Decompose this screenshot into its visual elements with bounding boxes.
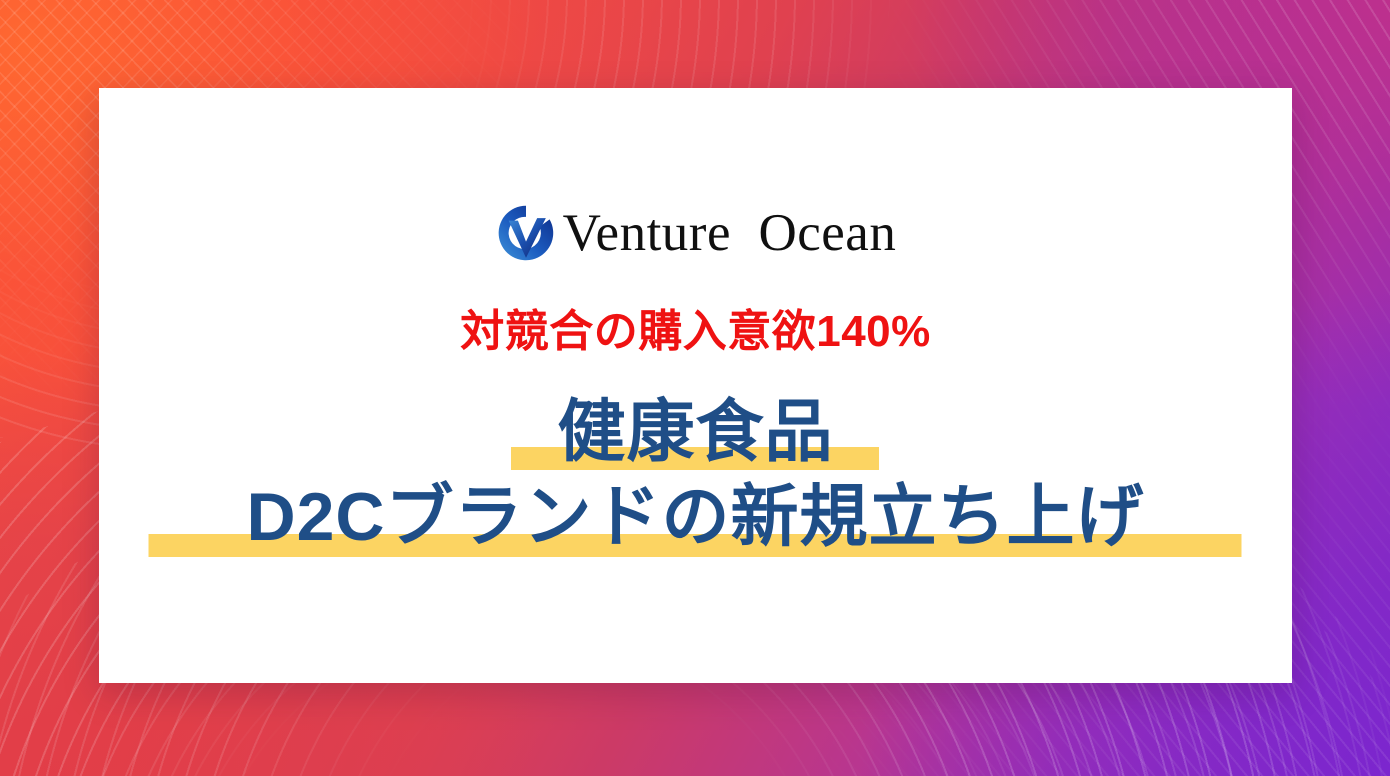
headline-line-2: D2Cブランドの新規立ち上げ [246, 479, 1144, 555]
brand-logo: Venture Ocean [495, 200, 897, 266]
headline: 健康食品 D2Cブランドの新規立ち上げ [246, 394, 1144, 554]
headline-line-1: 健康食品 [246, 394, 1144, 470]
logo-wordmark: Venture Ocean [563, 207, 897, 260]
kicker-text: 対競合の購入意欲140% [460, 308, 931, 356]
slide-canvas: Venture Ocean 対競合の購入意欲140% 健康食品 D2Cブランドの… [0, 0, 1390, 776]
venture-ocean-v-mark-icon [495, 202, 557, 264]
headline-line-2-text: D2Cブランドの新規立ち上げ [246, 479, 1144, 555]
headline-line-1-text: 健康食品 [557, 394, 833, 470]
content-card: Venture Ocean 対競合の購入意欲140% 健康食品 D2Cブランドの… [99, 88, 1292, 683]
